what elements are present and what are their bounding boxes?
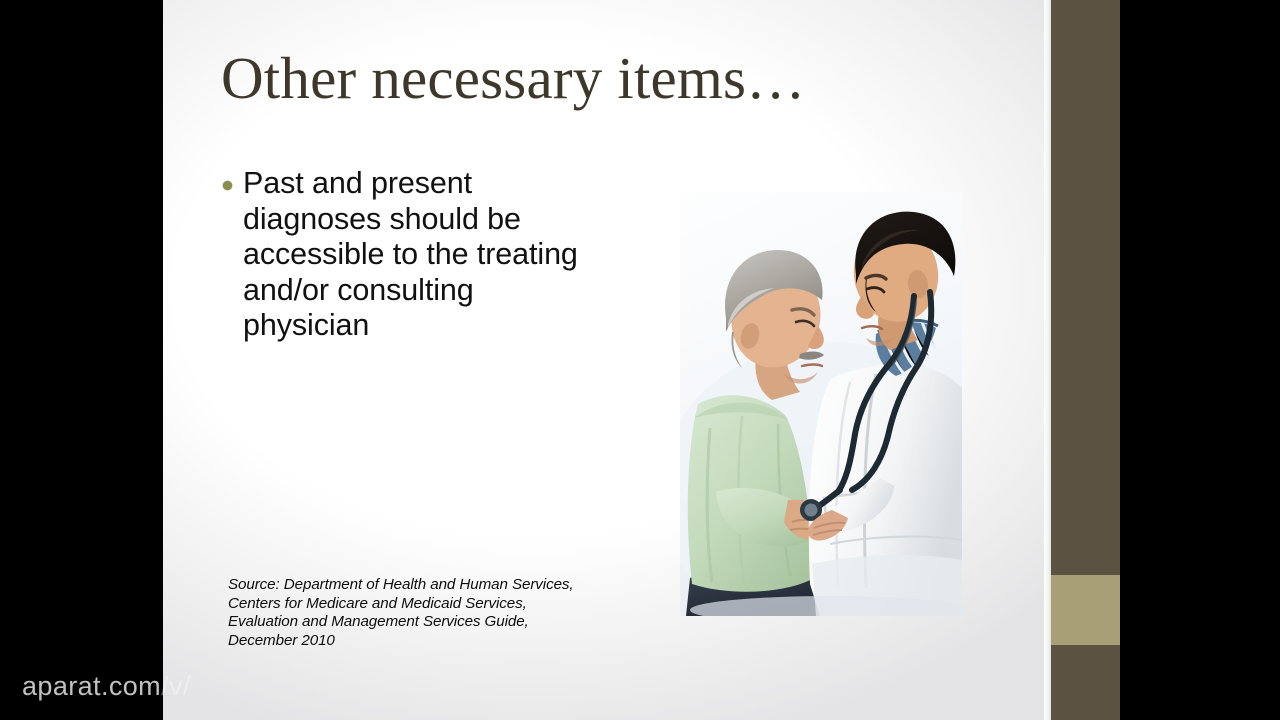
decorative-rail-accent — [1051, 575, 1120, 645]
watermark-text: aparat.com — [22, 671, 161, 701]
bullet-list: Past and present diagnoses should be acc… — [223, 166, 583, 344]
page-title: Other necessary items… — [221, 48, 961, 110]
watermark: aparat.com/v/ — [22, 671, 191, 702]
bullet-dot-icon — [223, 181, 232, 190]
list-item: Past and present diagnoses should be acc… — [223, 166, 583, 344]
watermark-text-tail: /v/ — [161, 671, 191, 701]
source-line-4: December 2010 — [228, 632, 648, 651]
list-item-label: Past and present diagnoses should be acc… — [243, 166, 583, 344]
doctor-patient-photo — [680, 192, 962, 616]
source-line-1: Source: Department of Health and Human S… — [228, 576, 648, 595]
decorative-rail-top — [1051, 0, 1120, 575]
presentation-slide: Other necessary items… Past and present … — [163, 0, 1045, 720]
source-line-3: Evaluation and Management Services Guide… — [228, 613, 648, 632]
source-citation: Source: Department of Health and Human S… — [228, 576, 648, 650]
decorative-rail-bottom — [1051, 645, 1120, 720]
video-player-frame: Other necessary items… Past and present … — [0, 0, 1280, 720]
source-line-2: Centers for Medicare and Medicaid Servic… — [228, 595, 648, 614]
